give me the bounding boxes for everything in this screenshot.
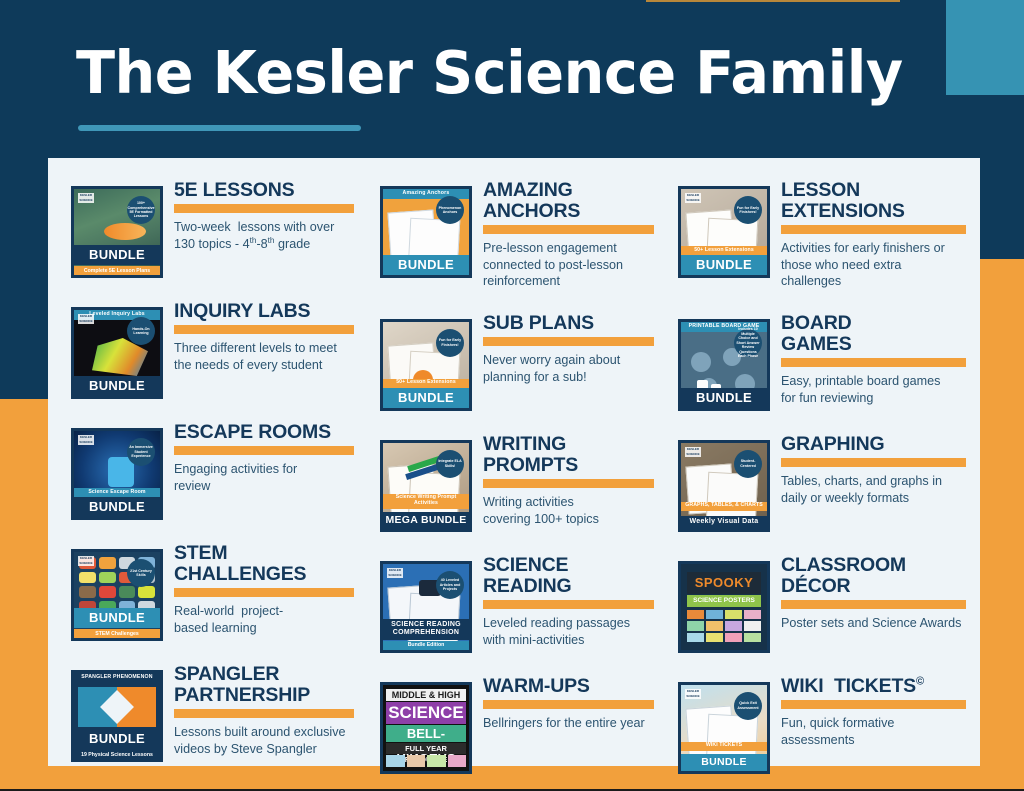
product-thumbnail[interactable]: MIDDLE & HIGHSCIENCEBELL-RINGERSFULL YEA… xyxy=(380,682,472,774)
product-title: SPANGLERPARTNERSHIP xyxy=(174,664,354,706)
product-text-block: AMAZINGANCHORSPre-lesson engagementconne… xyxy=(472,180,654,290)
product-description: Pre-lesson engagementconnected to post-l… xyxy=(483,240,654,290)
product-description: Leveled reading passageswith mini-activi… xyxy=(483,615,654,648)
product-item[interactable]: SPANGLER PHENOMENON19 Physical Science L… xyxy=(71,664,354,762)
product-thumbnail[interactable]: KESLER SCIENCELeveled Inquiry LabsHands-… xyxy=(71,307,163,399)
product-title: WARM-UPS xyxy=(483,676,654,697)
left-orange-band xyxy=(0,399,48,791)
product-thumbnail[interactable]: Integrate ELA Skills!MEGA BUNDLEScience … xyxy=(380,440,472,532)
warmup-cover-line: BELL-RINGERS xyxy=(386,725,466,742)
product-title-rule xyxy=(174,204,354,213)
kesler-science-logo: KESLER SCIENCE xyxy=(78,556,94,566)
product-text-block: BOARDGAMESEasy, printable board gamesfor… xyxy=(770,313,966,406)
product-thumbnail[interactable]: KESLER SCIENCEFun for Early Finishers!BU… xyxy=(678,186,770,278)
product-item[interactable]: PRINTABLE BOARD GAMEIncludes 10 Multiple… xyxy=(678,313,966,411)
product-text-block: STEMCHALLENGESReal-world project-based l… xyxy=(163,543,354,636)
product-item[interactable]: KESLER SCIENCELeveled Inquiry LabsHands-… xyxy=(71,301,354,399)
product-description: Writing activitiescovering 100+ topics xyxy=(483,494,654,527)
product-title-rule xyxy=(174,588,354,597)
product-thumbnail[interactable]: KESLER SCIENCEAn Immersive Student Exper… xyxy=(71,428,163,520)
product-column-1: KESLER SCIENCE100+ Comprehensive 5E Form… xyxy=(48,158,364,766)
product-text-block: WARM-UPSBellringers for the entire year xyxy=(472,676,654,732)
kesler-science-logo: KESLER SCIENCE xyxy=(78,314,94,324)
thumbnail-badge: Includes 10 Multiple Choice and Short An… xyxy=(734,329,762,357)
thumbnail-strip-label: Science Escape Room xyxy=(74,488,160,497)
thumbnail-strip-label: 50+ Lesson Extensions xyxy=(681,246,767,255)
thumbnail-top-label: SPANGLER PHENOMENON xyxy=(74,673,160,683)
product-thumbnail[interactable]: SPOOKYSCIENCE POSTERS xyxy=(678,561,770,653)
thumbnail-strip-label: GRAPHS, TABLES, & CHARTS xyxy=(681,502,767,511)
product-text-block: INQUIRY LABSThree different levels to me… xyxy=(163,301,354,373)
product-item[interactable]: KESLER SCIENCE21st Century SkillsSTEM Ch… xyxy=(71,543,354,641)
product-title: WRITINGPROMPTS xyxy=(483,434,654,476)
product-thumbnail[interactable]: KESLER SCIENCE100+ Comprehensive 5E Form… xyxy=(71,186,163,278)
product-text-block: ESCAPE ROOMSEngaging activities forrevie… xyxy=(163,422,354,494)
product-thumbnail[interactable]: SPANGLER PHENOMENON19 Physical Science L… xyxy=(71,670,163,762)
thumbnail-subcaption: 19 Physical Science Lessons xyxy=(74,750,160,759)
thumbnail-bundle-label: BUNDLE xyxy=(681,255,767,275)
product-title: STEMCHALLENGES xyxy=(174,543,354,585)
product-title-rule xyxy=(483,337,654,346)
product-description: Easy, printable board gamesfor fun revie… xyxy=(781,373,966,406)
product-title-rule xyxy=(781,700,966,709)
product-thumbnail[interactable]: Fun for Early Finishers!BUNDLE50+ Lesson… xyxy=(380,319,472,411)
product-column-3: KESLER SCIENCEFun for Early Finishers!BU… xyxy=(664,158,980,766)
kesler-science-logo: KESLER SCIENCE xyxy=(78,193,94,203)
product-description: Three different levels to meetthe needs … xyxy=(174,340,354,373)
title-underline-rule xyxy=(78,125,361,131)
product-title: LESSONEXTENSIONS xyxy=(781,180,966,222)
product-title: SUB PLANS xyxy=(483,313,654,334)
thumbnail-badge: Hands-On Learning xyxy=(127,317,155,345)
product-item[interactable]: Amazing AnchorsPhenomenon AnchorsBUNDLEA… xyxy=(380,180,654,290)
product-description: Real-world project-based learning xyxy=(174,603,354,636)
thumbnail-badge: 40 Leveled Articles and Projects xyxy=(436,571,464,599)
product-text-block: WRITINGPROMPTSWriting activitiescovering… xyxy=(472,434,654,527)
thumbnail-bundle-label: SCIENCE READING COMPREHENSION xyxy=(383,619,469,640)
thumbnail-bundle-label: BUNDLE xyxy=(74,245,160,265)
thumbnail-badge: An Immersive Student Experience xyxy=(127,438,155,466)
product-item[interactable]: KESLER SCIENCEQuick Exit AssessmentBUNDL… xyxy=(678,676,966,774)
product-text-block: GRAPHINGTables, charts, and graphs indai… xyxy=(770,434,966,506)
product-description: Fun, quick formativeassessments xyxy=(781,715,966,748)
product-text-block: WIKI TICKETS©Fun, quick formativeassessm… xyxy=(770,676,966,748)
product-text-block: SUB PLANSNever worry again aboutplanning… xyxy=(472,313,654,385)
product-item[interactable]: MIDDLE & HIGHSCIENCEBELL-RINGERSFULL YEA… xyxy=(380,676,654,774)
product-title-rule xyxy=(174,446,354,455)
thumbnail-badge: Fun for Early Finishers! xyxy=(734,196,762,224)
thumbnail-bundle-label: BUNDLE xyxy=(681,388,767,408)
spooky-banner: SPOOKY xyxy=(687,572,761,594)
product-title: 5E LESSONS xyxy=(174,180,354,201)
product-item[interactable]: KESLER SCIENCE100+ Comprehensive 5E Form… xyxy=(71,180,354,278)
product-title-rule xyxy=(781,458,966,467)
product-title-rule xyxy=(483,479,654,488)
product-item[interactable]: KESLER SCIENCEAn Immersive Student Exper… xyxy=(71,422,354,520)
thumbnail-bundle-label: MEGA BUNDLE xyxy=(383,512,469,529)
thumbnail-badge: Fun for Early Finishers! xyxy=(436,329,464,357)
thumbnail-subcaption: Bundle Edition xyxy=(383,641,469,650)
right-orange-band xyxy=(980,259,1024,791)
thumbnail-bundle-label: BUNDLE xyxy=(74,729,160,749)
product-thumbnail[interactable]: KESLER SCIENCEQuick Exit AssessmentBUNDL… xyxy=(678,682,770,774)
product-thumbnail[interactable]: KESLER SCIENCE40 Leveled Articles and Pr… xyxy=(380,561,472,653)
thumbnail-artwork: SPOOKYSCIENCE POSTERS xyxy=(681,564,767,650)
product-title: SCIENCEREADING xyxy=(483,555,654,597)
product-item[interactable]: Integrate ELA Skills!MEGA BUNDLEScience … xyxy=(380,434,654,532)
thumbnail-badge: 100+ Comprehensive 5E Formatted Lessons xyxy=(127,196,155,224)
thumbnail-subcaption: Complete 5E Lesson Plans xyxy=(74,266,160,275)
thumbnail-subcaption: STEM Challenges xyxy=(74,629,160,638)
product-title: AMAZINGANCHORS xyxy=(483,180,654,222)
product-title: CLASSROOMDÉCOR xyxy=(781,555,966,597)
top-right-teal-block xyxy=(946,0,1024,95)
product-text-block: SCIENCEREADINGLeveled reading passageswi… xyxy=(472,555,654,648)
kesler-science-logo: KESLER SCIENCE xyxy=(387,568,403,578)
product-item[interactable]: Fun for Early Finishers!BUNDLE50+ Lesson… xyxy=(380,313,654,411)
product-item[interactable]: KESLER SCIENCE40 Leveled Articles and Pr… xyxy=(380,555,654,653)
thumbnail-badge: Student-Centered xyxy=(734,450,762,478)
warmup-cover-line: MIDDLE & HIGH xyxy=(386,689,466,701)
product-title-rule xyxy=(483,700,654,709)
thumbnail-strip-label: 50+ Lesson Extensions xyxy=(383,379,469,388)
thumbnail-badge: Phenomenon Anchors xyxy=(436,196,464,224)
product-text-block: CLASSROOMDÉCORPoster sets and Science Aw… xyxy=(770,555,966,632)
kesler-science-logo: KESLER SCIENCE xyxy=(685,689,701,699)
product-title: INQUIRY LABS xyxy=(174,301,354,322)
product-description: Tables, charts, and graphs indaily or we… xyxy=(781,473,966,506)
thumbnail-strip-label: Science Writing Prompt Activities xyxy=(383,494,469,509)
product-text-block: SPANGLERPARTNERSHIPLessons built around … xyxy=(163,664,354,757)
product-title-rule xyxy=(483,600,654,609)
thumbnail-bundle-label: Weekly Visual Data xyxy=(681,516,767,529)
product-description: Engaging activities forreview xyxy=(174,461,354,494)
product-thumbnail[interactable]: Amazing AnchorsPhenomenon AnchorsBUNDLE xyxy=(380,186,472,278)
product-title: GRAPHING xyxy=(781,434,966,455)
thumbnail-badge: Integrate ELA Skills! xyxy=(436,450,464,478)
product-title-rule xyxy=(781,600,966,609)
product-title: ESCAPE ROOMS xyxy=(174,422,354,443)
thumbnail-badge: 21st Century Skills xyxy=(127,559,155,587)
thumbnail-bundle-label: BUNDLE xyxy=(681,754,767,771)
thumbnail-bundle-label: BUNDLE xyxy=(74,376,160,396)
product-item[interactable]: KESLER SCIENCEFun for Early Finishers!BU… xyxy=(678,180,966,290)
product-item[interactable]: SPOOKYSCIENCE POSTERSCLASSROOMDÉCORPoste… xyxy=(678,555,966,653)
product-description: Two-week lessons with over130 topics - 4… xyxy=(174,219,354,252)
poster-header: The Kesler Science Family xyxy=(0,0,946,158)
thumbnail-bundle-label: BUNDLE xyxy=(383,388,469,408)
product-text-block: 5E LESSONSTwo-week lessons with over130 … xyxy=(163,180,354,252)
kesler-science-logo: KESLER SCIENCE xyxy=(78,435,94,445)
product-columns: KESLER SCIENCE100+ Comprehensive 5E Form… xyxy=(48,158,980,766)
thumbnail-artwork: MIDDLE & HIGHSCIENCEBELL-RINGERSFULL YEA… xyxy=(383,685,469,771)
thumbnail-badge: Quick Exit Assessment xyxy=(734,692,762,720)
thumbnail-bundle-label: BUNDLE xyxy=(383,255,469,275)
product-column-2: Amazing AnchorsPhenomenon AnchorsBUNDLEA… xyxy=(364,158,664,766)
posters-sublabel: SCIENCE POSTERS xyxy=(687,595,761,607)
product-title-rule xyxy=(483,225,654,234)
product-title: WIKI TICKETS© xyxy=(781,676,966,697)
product-title-rule xyxy=(781,358,966,367)
product-title: BOARDGAMES xyxy=(781,313,966,355)
page-title: The Kesler Science Family xyxy=(76,38,903,107)
product-thumbnail[interactable]: KESLER SCIENCE21st Century SkillsSTEM Ch… xyxy=(71,549,163,641)
product-thumbnail[interactable]: KESLER SCIENCEStudent-CenteredWeekly Vis… xyxy=(678,440,770,532)
poster-canvas: The Kesler Science Family KESLER SCIENCE… xyxy=(0,0,1024,791)
product-thumbnail[interactable]: PRINTABLE BOARD GAMEIncludes 10 Multiple… xyxy=(678,319,770,411)
product-description: Bellringers for the entire year xyxy=(483,715,654,732)
warmup-cover-line: FULL YEAR RESOURCE xyxy=(386,743,466,754)
product-description: Activities for early finishers orthose w… xyxy=(781,240,966,290)
product-description: Never worry again aboutplanning for a su… xyxy=(483,352,654,385)
thumbnail-bundle-label: BUNDLE xyxy=(74,497,160,517)
kesler-science-logo: KESLER SCIENCE xyxy=(685,193,701,203)
product-description: Lessons built around exclusivevideos by … xyxy=(174,724,354,757)
product-title-rule xyxy=(174,325,354,334)
product-title-rule xyxy=(174,709,354,718)
product-description: Poster sets and Science Awards xyxy=(781,615,966,632)
thumbnail-bundle-label: BUNDLE xyxy=(74,608,160,628)
thumbnail-strip-label: WIKI TICKETS xyxy=(681,742,767,751)
product-item[interactable]: KESLER SCIENCEStudent-CenteredWeekly Vis… xyxy=(678,434,966,532)
kesler-science-logo: KESLER SCIENCE xyxy=(685,447,701,457)
product-title-rule xyxy=(781,225,966,234)
product-grid-card: KESLER SCIENCE100+ Comprehensive 5E Form… xyxy=(48,158,980,766)
product-text-block: LESSONEXTENSIONSActivities for early fin… xyxy=(770,180,966,290)
warmup-cover-line: SCIENCE xyxy=(386,702,466,724)
